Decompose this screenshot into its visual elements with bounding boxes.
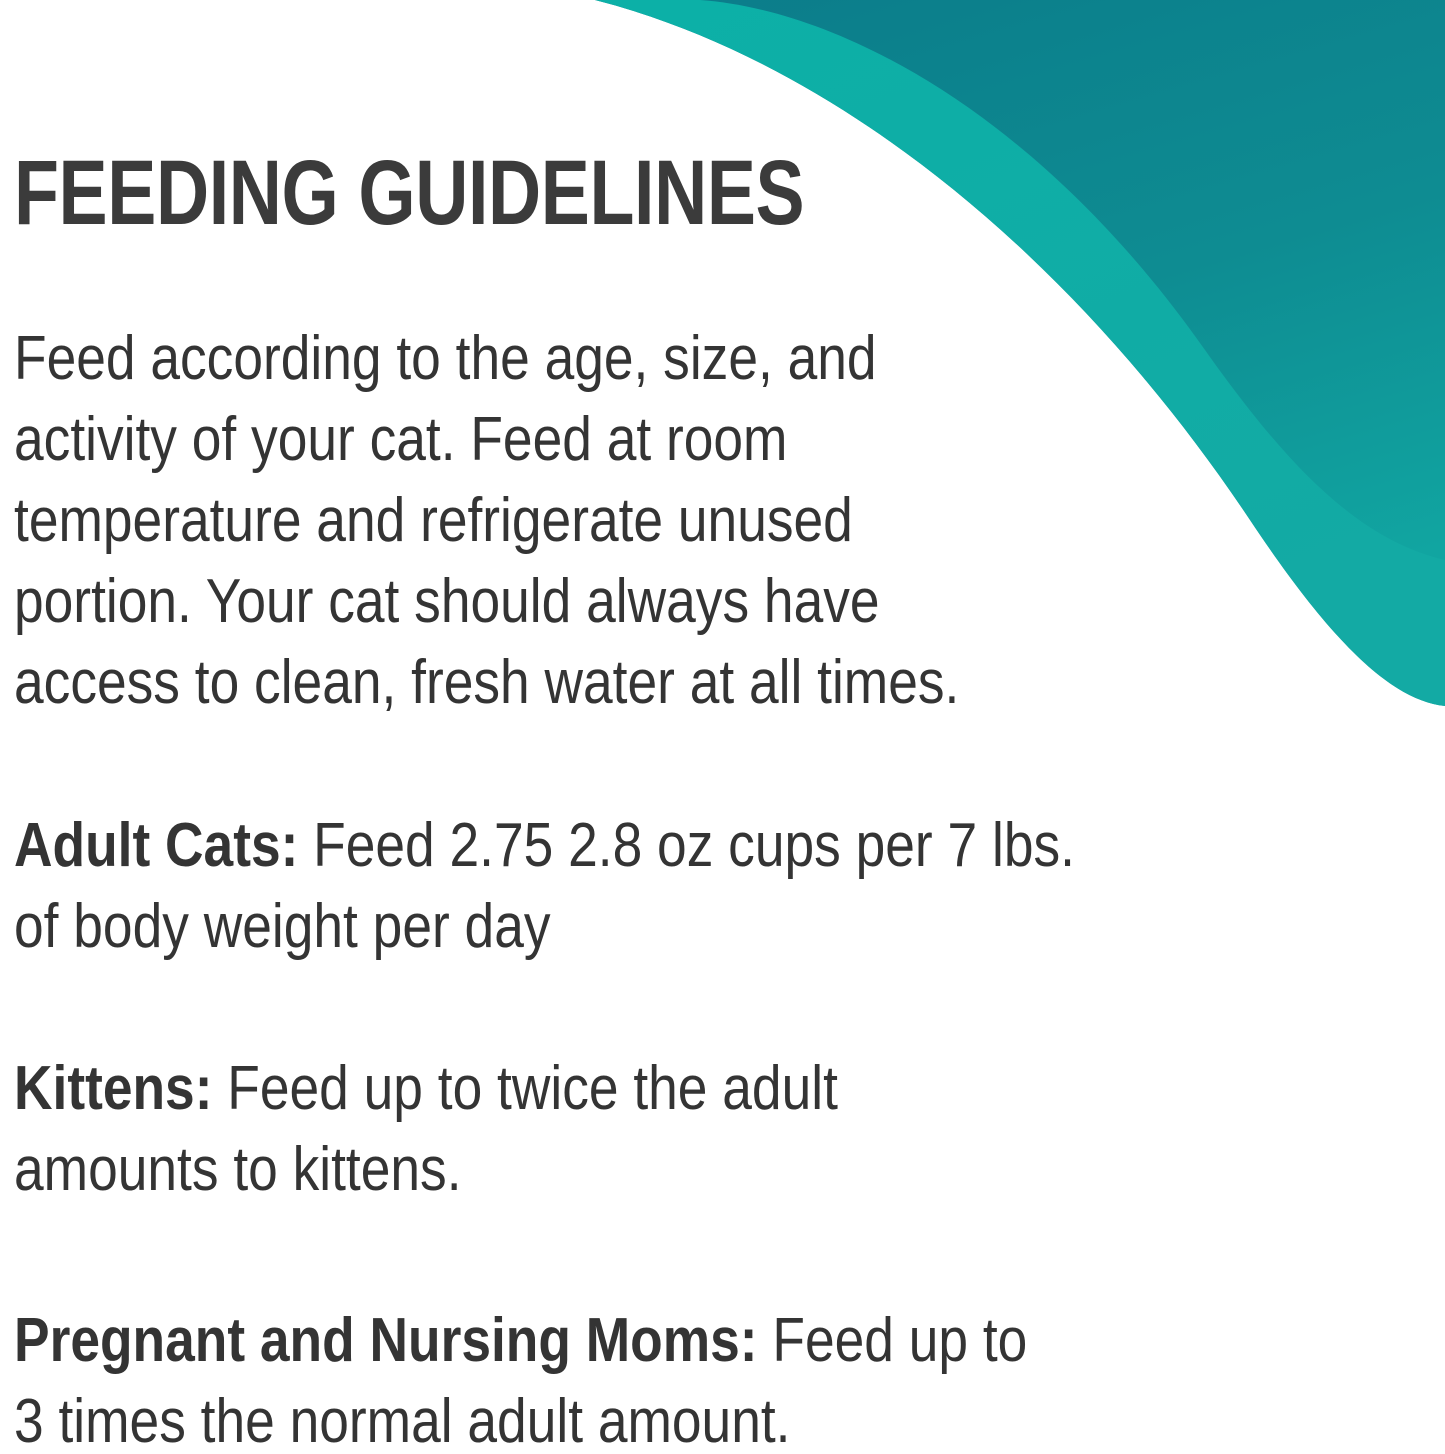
adult-cats-label: Adult Cats: [14,811,298,880]
kittens-label: Kittens: [14,1054,212,1123]
nursing-moms-line-1: Pregnant and Nursing Moms: Feed up to [14,1300,1027,1381]
nursing-moms-paragraph: Pregnant and Nursing Moms: Feed up to 3 … [14,1300,1027,1454]
kittens-line-1: Kittens: Feed up to twice the adult [14,1048,838,1129]
intro-line-5: access to clean, fresh water at all time… [14,642,959,723]
adult-cats-paragraph: Adult Cats: Feed 2.75 2.8 oz cups per 7 … [14,805,1075,967]
nursing-moms-label: Pregnant and Nursing Moms: [14,1306,758,1375]
feeding-guidelines-panel: FEEDING GUIDELINES Feed according to the… [0,0,1445,1454]
intro-line-3: temperature and refrigerate unused [14,480,959,561]
intro-paragraph: Feed according to the age, size, and act… [14,318,959,723]
adult-cats-line-1: Adult Cats: Feed 2.75 2.8 oz cups per 7 … [14,805,1075,886]
adult-cats-line-2: of body weight per day [14,886,1075,967]
intro-line-4: portion. Your cat should always have [14,561,959,642]
page-title: FEEDING GUIDELINES [14,148,804,238]
nursing-moms-line-2: 3 times the normal adult amount. [14,1381,1027,1454]
content-column: FEEDING GUIDELINES Feed according to the… [14,0,1414,1454]
adult-cats-text-1: Feed 2.75 2.8 oz cups per 7 lbs. [298,811,1075,880]
kittens-paragraph: Kittens: Feed up to twice the adult amou… [14,1048,838,1210]
kittens-line-2: amounts to kittens. [14,1129,838,1210]
intro-line-2: activity of your cat. Feed at room [14,399,959,480]
nursing-moms-text-1: Feed up to [758,1306,1028,1375]
kittens-text-1: Feed up to twice the adult [212,1054,837,1123]
intro-line-1: Feed according to the age, size, and [14,318,959,399]
